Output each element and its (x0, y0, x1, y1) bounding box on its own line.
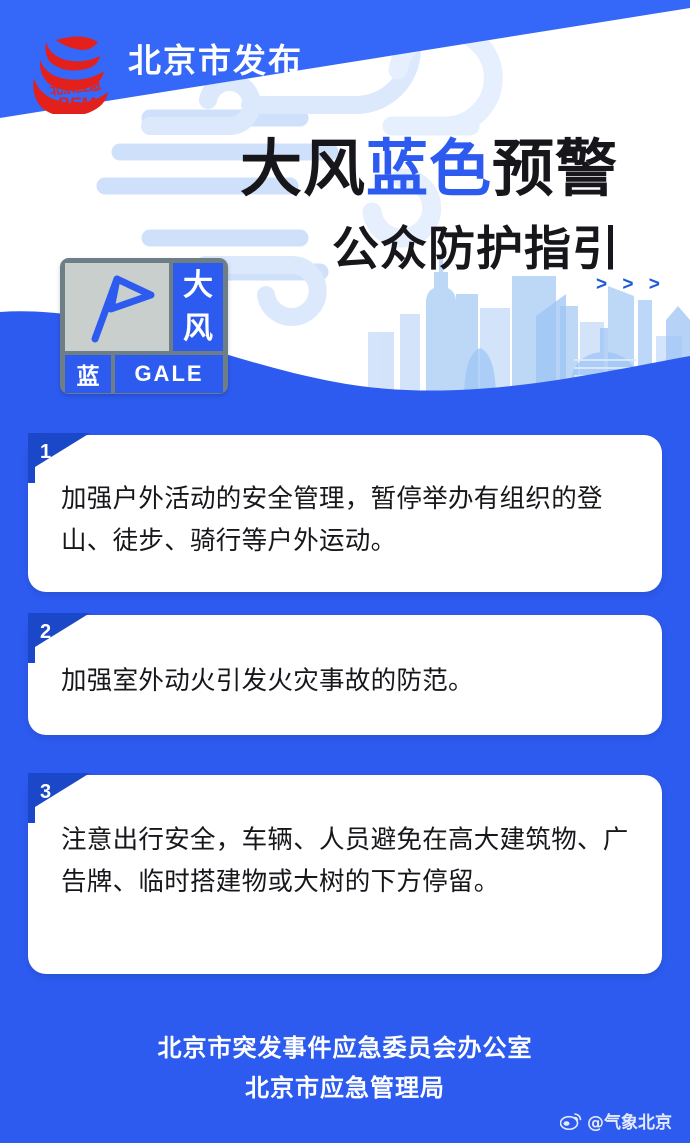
advice-text-2: 加强室外动火引发火灾事故的防范。 (28, 660, 662, 702)
title-main-suffix: 预警 (492, 132, 618, 205)
gale-color-cn: 蓝 (65, 355, 111, 393)
gale-label-en: GALE (115, 355, 223, 393)
advice-text-3: 注意出行安全，车辆、人员避免在高大建筑物、广告牌、临时搭建物或大树的下方停留。 (28, 819, 662, 903)
footer-org-line-2: 北京市应急管理局 (0, 1068, 690, 1108)
advice-card-1: 1 加强户外活动的安全管理，暂停举办有组织的登山、徒步、骑行等户外运动。 (28, 435, 662, 592)
weibo-icon (560, 1112, 582, 1130)
wind-flag-panel (65, 263, 169, 351)
gale-level-cn: 大风 (173, 263, 223, 351)
chevron-right-icon: > > > (596, 274, 665, 296)
weibo-watermark: @气象北京 (560, 1108, 672, 1133)
poster-root: 北京应急 BEM 北京市发布 大风蓝色预警 公众防护指引 > > > 大风 蓝 … (0, 0, 690, 1143)
page-title: 大风蓝色预警 (240, 118, 618, 208)
advice-card-2: 2 加强室外动火引发火灾事故的防范。 (28, 615, 662, 735)
page-subtitle: 公众防护指引 (332, 210, 620, 279)
title-main-prefix: 大风 (240, 132, 366, 205)
advice-number-2: 2 (40, 621, 51, 644)
advice-text-1: 加强户外活动的安全管理，暂停举办有组织的登山、徒步、骑行等户外运动。 (28, 478, 662, 562)
weibo-handle: @气象北京 (587, 1108, 672, 1133)
bem-logo: 北京应急 BEM (26, 26, 122, 114)
advice-card-3: 3 注意出行安全，车辆、人员避免在高大建筑物、广告牌、临时搭建物或大树的下方停留… (28, 775, 662, 974)
logo-en-text: BEM (57, 94, 96, 113)
gale-warning-sign: 大风 蓝 GALE (60, 258, 228, 394)
advice-number-1: 1 (40, 441, 51, 464)
footer-org-line-1: 北京市突发事件应急委员会办公室 (0, 1028, 690, 1068)
wind-flag-icon (73, 269, 161, 345)
brand-title: 北京市发布 (128, 34, 303, 82)
title-main-accent: 蓝色 (366, 132, 492, 205)
advice-number-3: 3 (40, 781, 51, 804)
footer: 北京市突发事件应急委员会办公室 北京市应急管理局 (0, 1028, 690, 1108)
